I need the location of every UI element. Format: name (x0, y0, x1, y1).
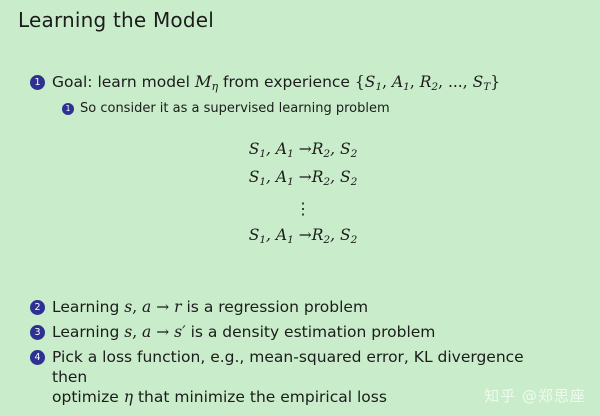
regression-suffix: is a regression problem (182, 298, 368, 316)
equation-block: S1, A1 →R2, S2 S1, A1 →R2, S2 ⋮ S1, A1 →… (0, 138, 600, 252)
loss-eta-symbol: η (124, 388, 133, 406)
model-symbol-letter: M (195, 72, 212, 91)
goal-text-prefix: Goal: learn model (52, 73, 195, 91)
list-item-regression-text: Learning s, a → r is a regression proble… (52, 297, 368, 317)
regression-math: s, a → r (124, 298, 181, 316)
bullet-marker-3: 3 (30, 325, 45, 340)
list-item-goal: 1 Goal: learn model Mη from experience {… (0, 72, 600, 97)
goal-text-middle: from experience (218, 73, 355, 91)
bullet-marker-2: 2 (30, 300, 45, 315)
list-item-regression: 2 Learning s, a → r is a regression prob… (0, 297, 600, 317)
list-item-goal-text: Goal: learn model Mη from experience {S1… (52, 72, 500, 97)
list-item-density-text: Learning s, a → s′ is a density estimati… (52, 322, 435, 342)
model-symbol: Mη (195, 72, 218, 91)
list-item-supervised-text: So consider it as a supervised learning … (80, 100, 390, 117)
slide: Learning the Model 1 Goal: learn model M… (0, 0, 600, 416)
list-item-density: 3 Learning s, a → s′ is a density estima… (0, 322, 600, 342)
equation-line-2: S1, A1 →R2, S2 (0, 166, 600, 194)
experience-set: {S1, A1, R2, ..., ST} (355, 73, 500, 91)
page-title: Learning the Model (18, 8, 214, 32)
equation-line-3: S1, A1 →R2, S2 (0, 224, 600, 252)
density-prefix: Learning (52, 323, 124, 341)
density-math: s, a → s′ (124, 323, 185, 341)
bullet-marker-4: 4 (30, 350, 45, 365)
loss-line-2-prefix: optimize (52, 388, 124, 406)
equation-line-1: S1, A1 →R2, S2 (0, 138, 600, 166)
watermark: 知乎 @郑思座 (484, 385, 586, 406)
bullet-marker-1: 1 (30, 75, 45, 90)
regression-prefix: Learning (52, 298, 124, 316)
loss-line-1: Pick a loss function, e.g., mean-squared… (52, 348, 524, 386)
list-item-supervised: 1 So consider it as a supervised learnin… (0, 100, 600, 117)
density-suffix: is a density estimation problem (186, 323, 436, 341)
main-bullet-list: 1 Goal: learn model Mη from experience {… (0, 72, 600, 119)
equation-vertical-ellipsis: ⋮ (0, 194, 600, 224)
sub-bullet-marker-1: 1 (62, 103, 74, 115)
loss-line-2-suffix: that minimize the empirical loss (133, 388, 387, 406)
